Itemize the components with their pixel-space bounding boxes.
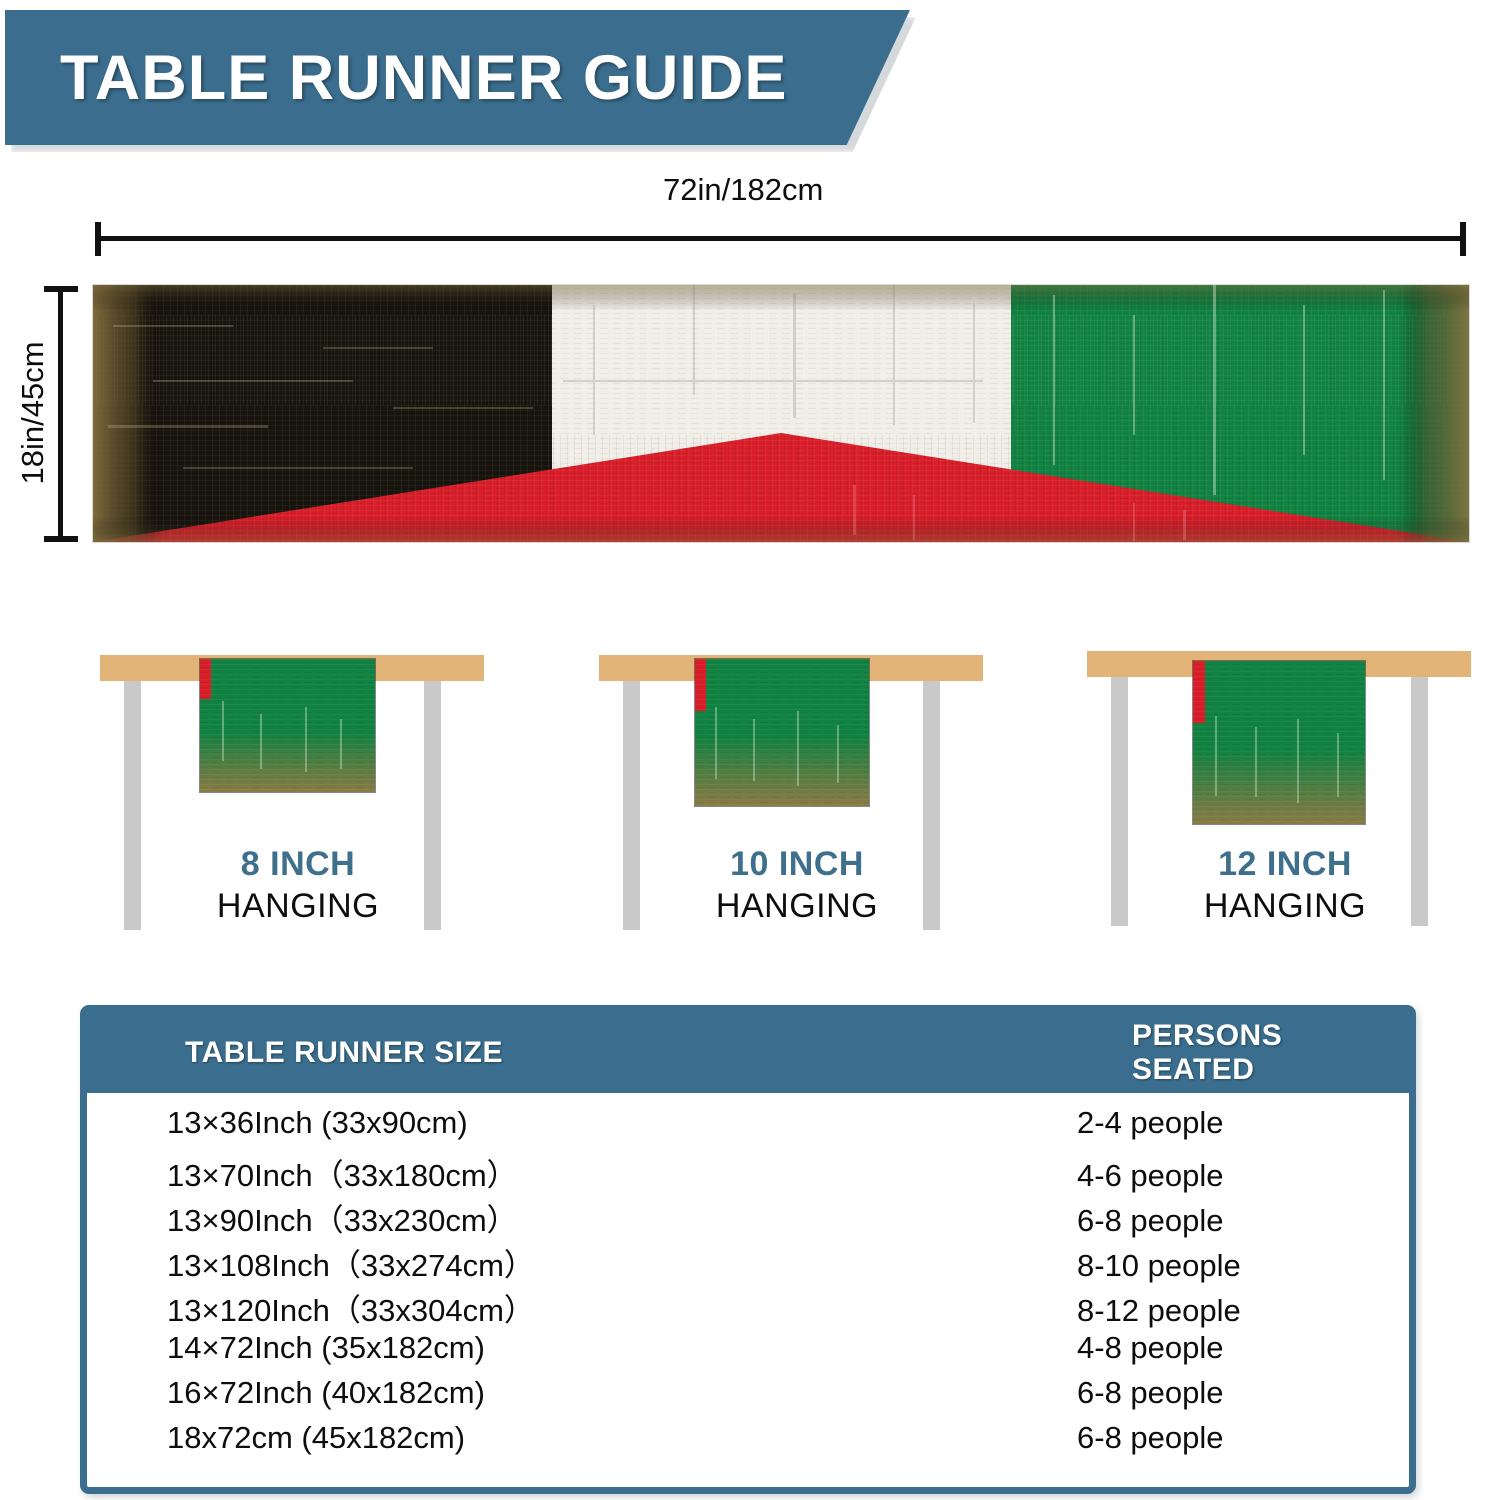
column-header-size: TABLE RUNNER SIZE <box>185 1036 503 1070</box>
width-dimension-label: 72in/182cm <box>663 172 823 208</box>
cell-persons-seated: 4-6 people <box>1077 1158 1224 1194</box>
header-banner: TABLE RUNNER GUIDE <box>5 10 910 145</box>
figure-size-label: 8 INCH <box>98 845 498 884</box>
cell-runner-size: 13×90Inch（33x230cm） <box>87 1195 1077 1240</box>
cell-persons-seated: 8-12 people <box>1077 1293 1241 1329</box>
hanging-figure-8-inch: 8 INCH HANGING <box>98 637 498 937</box>
cell-persons-seated: 6-8 people <box>1077 1375 1224 1411</box>
table-row: 13×90Inch（33x230cm）6-8 people <box>87 1195 1409 1240</box>
cell-runner-size: 13×70Inch（33x180cm） <box>87 1150 1077 1195</box>
width-dimension-cap-right <box>1460 222 1466 256</box>
flag-artwork <box>93 285 1469 542</box>
column-header-persons: PERSONS SEATED <box>1132 1019 1409 1087</box>
runner-drape-8-inch <box>200 659 375 792</box>
figure-size-label: 10 INCH <box>597 845 997 884</box>
figure-hanging-label: HANGING <box>597 887 997 926</box>
height-dimension-cap-top <box>44 286 78 292</box>
table-row: 13×70Inch（33x180cm）4-6 people <box>87 1150 1409 1195</box>
cell-runner-size: 16×72Inch (40x182cm) <box>87 1375 1077 1411</box>
table-row: 18x72cm (45x182cm)6-8 people <box>87 1420 1409 1465</box>
size-table: TABLE RUNNER SIZE PERSONS SEATED 13×36In… <box>80 1005 1416 1494</box>
product-runner-image <box>93 285 1469 542</box>
table-row: 13×120Inch（33x304cm）8-12 people <box>87 1285 1409 1330</box>
height-dimension-cap-bottom <box>44 536 78 542</box>
cell-runner-size: 13×120Inch（33x304cm） <box>87 1285 1077 1330</box>
hanging-figure-10-inch: 10 INCH HANGING <box>597 637 997 937</box>
width-dimension-line <box>95 236 1466 241</box>
banner-body: TABLE RUNNER GUIDE <box>5 10 910 145</box>
figure-hanging-label: HANGING <box>1085 887 1485 926</box>
cell-runner-size: 14×72Inch (35x182cm) <box>87 1330 1077 1366</box>
size-table-header: TABLE RUNNER SIZE PERSONS SEATED <box>87 1012 1409 1093</box>
cell-persons-seated: 6-8 people <box>1077 1420 1224 1456</box>
table-runner-guide-page: TABLE RUNNER GUIDE 72in/182cm 18in/45cm <box>0 0 1493 1500</box>
cell-runner-size: 13×36Inch (33x90cm) <box>87 1105 1077 1141</box>
table-row: 16×72Inch (40x182cm)6-8 people <box>87 1375 1409 1420</box>
cell-persons-seated: 2-4 people <box>1077 1105 1224 1141</box>
size-table-body: 13×36Inch (33x90cm)2-4 people13×70Inch（3… <box>87 1093 1409 1487</box>
width-dimension-cap-left <box>95 222 101 256</box>
table-row: 13×108Inch（33x274cm）8-10 people <box>87 1240 1409 1285</box>
cell-runner-size: 18x72cm (45x182cm) <box>87 1420 1077 1456</box>
table-row: 13×36Inch (33x90cm)2-4 people <box>87 1105 1409 1150</box>
cell-persons-seated: 4-8 people <box>1077 1330 1224 1366</box>
figure-hanging-label: HANGING <box>98 887 498 926</box>
cell-persons-seated: 6-8 people <box>1077 1203 1224 1239</box>
page-title: TABLE RUNNER GUIDE <box>5 42 787 114</box>
hanging-figure-12-inch: 12 INCH HANGING <box>1085 633 1485 933</box>
table-row: 14×72Inch (35x182cm)4-8 people <box>87 1330 1409 1375</box>
height-dimension-line <box>58 288 63 540</box>
runner-drape-10-inch <box>695 659 869 806</box>
figure-size-label: 12 INCH <box>1085 845 1485 884</box>
height-dimension-label: 18in/45cm <box>15 318 51 508</box>
cell-runner-size: 13×108Inch（33x274cm） <box>87 1240 1077 1285</box>
runner-drape-12-inch <box>1193 661 1365 824</box>
cell-persons-seated: 8-10 people <box>1077 1248 1241 1284</box>
